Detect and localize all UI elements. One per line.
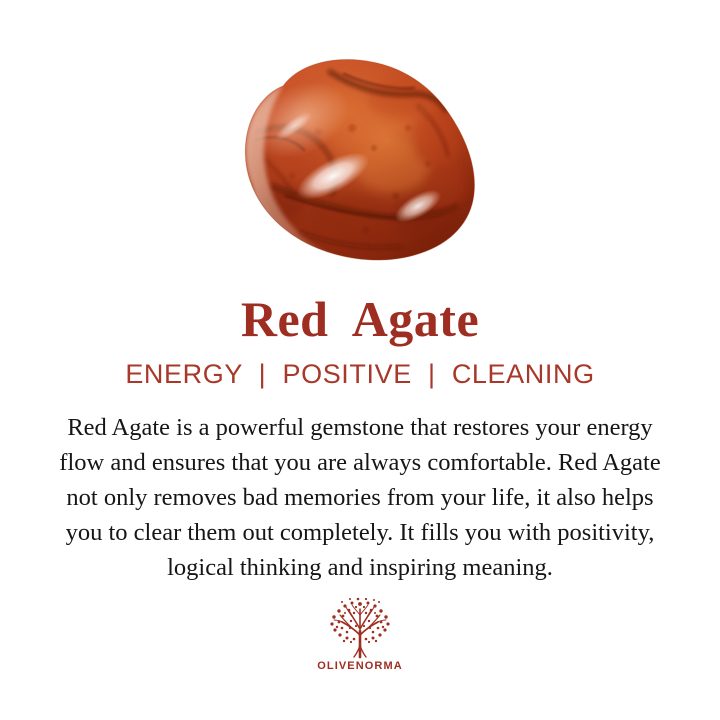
keyword-tagline: ENERGY | POSITIVE | CLEANING	[125, 360, 594, 390]
gemstone-image-container	[0, 0, 720, 292]
olivenorma-tree-icon	[321, 597, 399, 659]
product-description: Red Agate is a powerful gemstone that re…	[15, 410, 705, 585]
brand-wordmark: OLIVENORMA	[317, 660, 403, 672]
red-agate-stone-image	[0, 0, 720, 292]
brand-logo: OLIVENORMA	[317, 597, 403, 672]
page-title: Red Agate	[241, 292, 479, 346]
product-info-card: Red Agate ENERGY | POSITIVE | CLEANING R…	[0, 0, 720, 720]
